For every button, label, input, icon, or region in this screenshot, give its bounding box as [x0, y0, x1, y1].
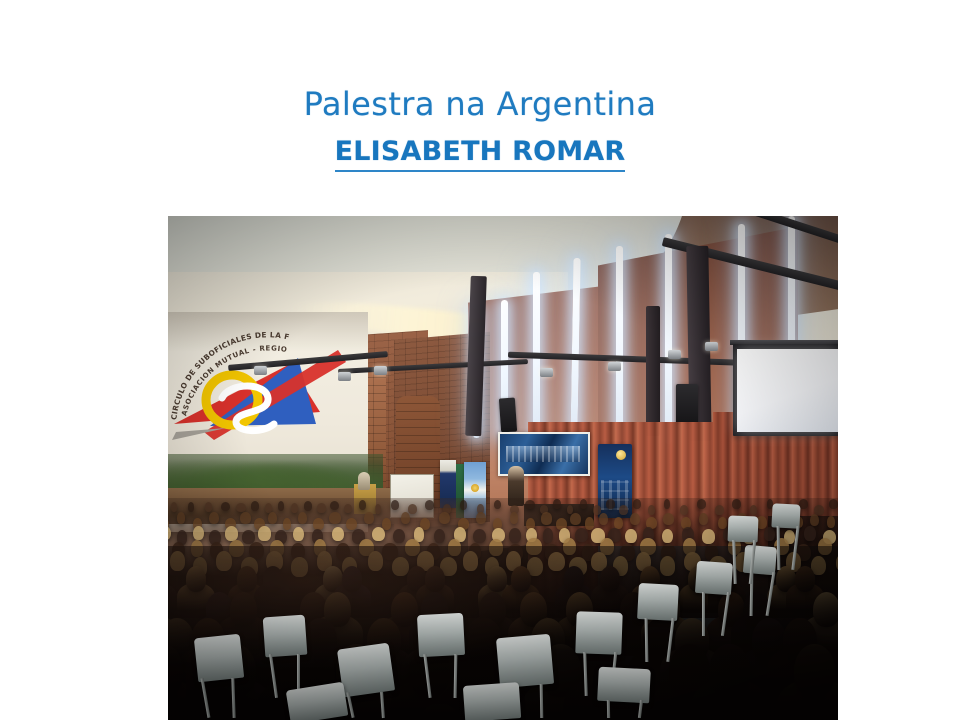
folding-chair: [337, 643, 395, 698]
audience-member: [625, 529, 636, 544]
folding-chair: [263, 615, 308, 658]
audience-member: [633, 499, 641, 509]
audience-member: [193, 526, 204, 541]
spotlight: [705, 342, 718, 351]
audience-member: [268, 512, 277, 524]
audience-member: [525, 500, 535, 510]
spotlight: [668, 350, 681, 359]
spotlight: [608, 362, 621, 371]
audience-member: [225, 526, 238, 541]
conference-hall-photo: CIRCULO DE SUBOFICIALES DE LA FUERZA AER…: [168, 216, 838, 720]
folding-chair: [417, 613, 465, 657]
audience-member: [804, 526, 816, 541]
wall-mural-logo: CIRCULO DE SUBOFICIALES DE LA FUERZA AER…: [170, 328, 350, 458]
flag-sun-emblem: [471, 484, 479, 492]
chair-leg: [702, 592, 705, 636]
strip-light: [665, 234, 672, 444]
folding-chair: [575, 611, 622, 655]
spotlight: [540, 368, 553, 377]
audience-member: [344, 504, 352, 514]
audience-member: [278, 501, 285, 511]
audience-member: [329, 512, 341, 524]
audience-member: [662, 529, 673, 544]
audience-member: [732, 499, 741, 509]
audience-member: [359, 500, 366, 510]
rollup-badge-icon: [616, 450, 626, 460]
audience-member: [372, 527, 385, 542]
audience-member: [585, 517, 594, 529]
pa-speaker: [676, 384, 698, 424]
audience-member: [476, 512, 486, 524]
page-title: Palestra na Argentina: [0, 84, 960, 124]
audience-member: [313, 518, 324, 530]
folding-chair: [496, 634, 554, 689]
audience-member: [829, 499, 838, 509]
audience-member: [408, 504, 417, 514]
audience-member: [330, 501, 339, 511]
audience-member: [702, 529, 715, 544]
audience-member: [810, 514, 819, 526]
audience-member: [750, 505, 757, 515]
folding-chair: [771, 503, 800, 528]
audience-member: [630, 513, 640, 525]
wall-column: [646, 306, 660, 436]
audience-member: [606, 499, 615, 509]
audience-member: [715, 505, 725, 515]
audience-member: [391, 500, 399, 510]
audience-member: [664, 499, 671, 509]
folding-chair: [637, 583, 679, 621]
folding-chair: [597, 667, 651, 704]
audience-member: [393, 529, 405, 544]
audience-member: [663, 513, 674, 525]
folding-chair: [728, 515, 759, 542]
audience-member: [460, 500, 467, 510]
audience-member: [593, 505, 601, 515]
audience-member: [570, 513, 581, 525]
spotlight: [254, 366, 267, 375]
audience-member: [827, 516, 836, 528]
audience-member: [171, 502, 178, 512]
audience-member: [543, 528, 554, 543]
audience-member: [510, 512, 519, 524]
audience-member: [425, 500, 434, 510]
slide-canvas: Palestra na Argentina ELISABETH ROMAR: [0, 0, 960, 720]
audience-member: [439, 512, 450, 524]
audience-member: [317, 503, 327, 513]
audience-member: [648, 505, 655, 515]
audience-member: [434, 529, 445, 544]
audience-member: [580, 499, 587, 509]
pa-speaker: [499, 397, 517, 432]
folding-chair: [743, 545, 777, 576]
audience-member: [236, 503, 246, 513]
audience-member: [188, 502, 195, 512]
audience-member: [293, 527, 304, 542]
audience-member: [575, 528, 588, 543]
audience-member: [680, 505, 688, 515]
audience-member: [209, 512, 219, 524]
audience-member: [283, 518, 292, 530]
audience-member: [553, 499, 560, 509]
audience-member: [258, 526, 271, 541]
presenter-at-podium: [358, 472, 370, 490]
audience-member: [177, 512, 186, 524]
audience-member: [168, 526, 171, 541]
audience-member: [332, 527, 345, 542]
folding-chair: [194, 634, 244, 683]
audience-member: [291, 503, 298, 513]
audience-member: [473, 529, 486, 544]
audience-member: [494, 500, 502, 510]
audience-member: [541, 512, 552, 524]
audience-member: [619, 505, 628, 515]
audience-member: [599, 513, 608, 525]
folding-chair: [463, 682, 521, 720]
folding-chair: [695, 561, 733, 595]
audience-member: [699, 513, 708, 525]
audience-member: [251, 501, 260, 511]
strip-light: [616, 246, 623, 442]
audience-member: [375, 504, 382, 514]
audience-member: [205, 502, 213, 512]
projection-screen: [737, 349, 838, 432]
audience-member: [697, 499, 706, 509]
page-subtitle: ELISABETH ROMAR: [335, 135, 626, 172]
audience-member: [401, 512, 410, 524]
audience-member: [304, 501, 313, 511]
audience-member: [382, 518, 391, 530]
audience-member: [509, 528, 521, 543]
spotlight: [338, 372, 351, 381]
audience-member: [364, 512, 374, 524]
spotlight: [374, 366, 387, 375]
chair-leg: [453, 654, 457, 698]
audience-member: [221, 502, 230, 512]
audience-member: [764, 527, 775, 542]
audience-member: [298, 512, 307, 524]
slide-title-block: Palestra na Argentina ELISABETH ROMAR: [0, 84, 960, 172]
audience-member: [240, 512, 252, 524]
